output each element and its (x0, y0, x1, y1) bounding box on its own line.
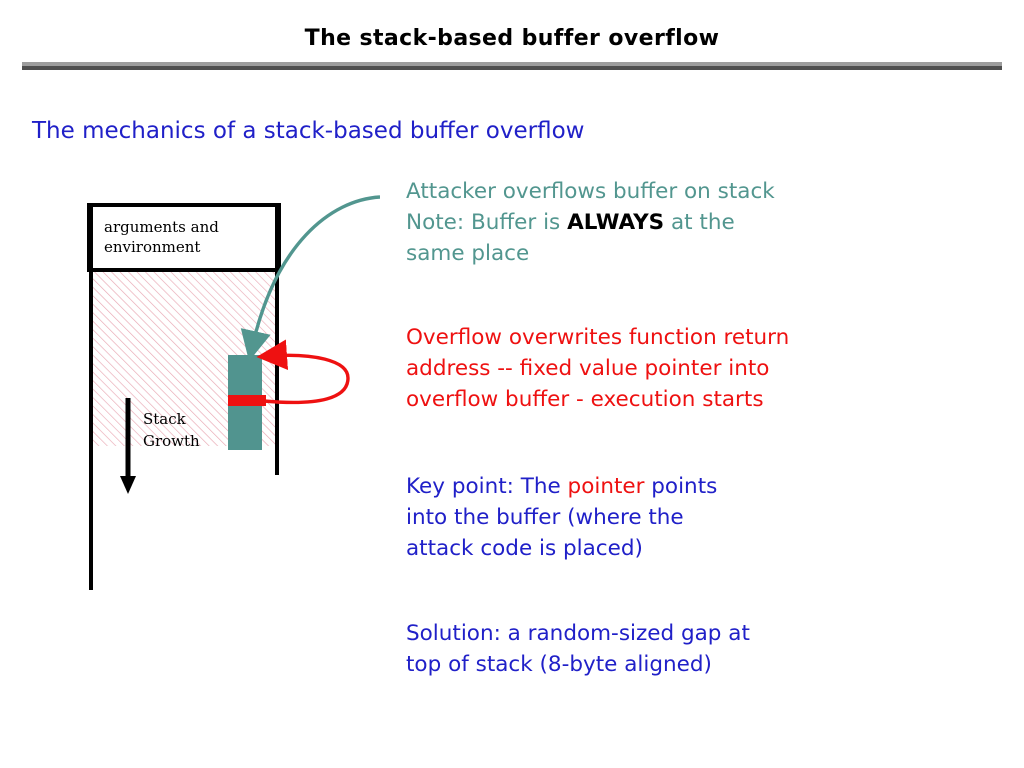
note-keypoint-pointer-emphasis: pointer (568, 474, 645, 499)
stack-layout-diagram: arguments and environment Stack Growth (80, 190, 380, 610)
note-attacker-line2: Note: Buffer is ALWAYS at the (406, 207, 775, 238)
divider-dark-band (22, 66, 1002, 70)
title-divider (22, 62, 1002, 70)
note-keypoint-line2: into the buffer (where the (406, 502, 717, 533)
note-attacker-line2-prefix: Note: Buffer is (406, 210, 567, 235)
note-keypoint-line1-prefix: Key point: The (406, 474, 568, 499)
note-keypoint-line1-suffix: points (644, 474, 717, 499)
page-title: The stack-based buffer overflow (0, 26, 1024, 51)
stack-growth-label-line2: Growth (143, 432, 200, 450)
note-attacker-always-emphasis: ALWAYS (567, 210, 664, 235)
note-overflow-line3: overflow buffer - execution starts (406, 384, 789, 415)
note-attacker-line1: Attacker overflows buffer on stack (406, 176, 775, 207)
note-overflow: Overflow overwrites function return addr… (406, 322, 789, 415)
note-keypoint-line3: attack code is placed) (406, 533, 717, 564)
arguments-environment-label-line2: environment (104, 238, 200, 256)
note-attacker-line3: same place (406, 238, 775, 269)
slide-subtitle: The mechanics of a stack-based buffer ov… (32, 118, 584, 144)
stack-growth-label-line1: Stack (143, 410, 187, 428)
note-solution-line2: top of stack (8-byte aligned) (406, 649, 750, 680)
note-keypoint: Key point: The pointer points into the b… (406, 471, 717, 564)
note-solution-line1: Solution: a random-sized gap at (406, 618, 750, 649)
note-attacker-line2-suffix: at the (664, 210, 735, 235)
note-overflow-line1: Overflow overwrites function return (406, 322, 789, 353)
return-address-bar (228, 395, 266, 406)
note-overflow-line2: address -- fixed value pointer into (406, 353, 789, 384)
note-solution: Solution: a random-sized gap at top of s… (406, 618, 750, 680)
note-keypoint-line1: Key point: The pointer points (406, 471, 717, 502)
note-attacker: Attacker overflows buffer on stack Note:… (406, 176, 775, 269)
stack-growth-arrow-head (120, 476, 136, 494)
arguments-environment-label-line1: arguments and (104, 218, 219, 236)
